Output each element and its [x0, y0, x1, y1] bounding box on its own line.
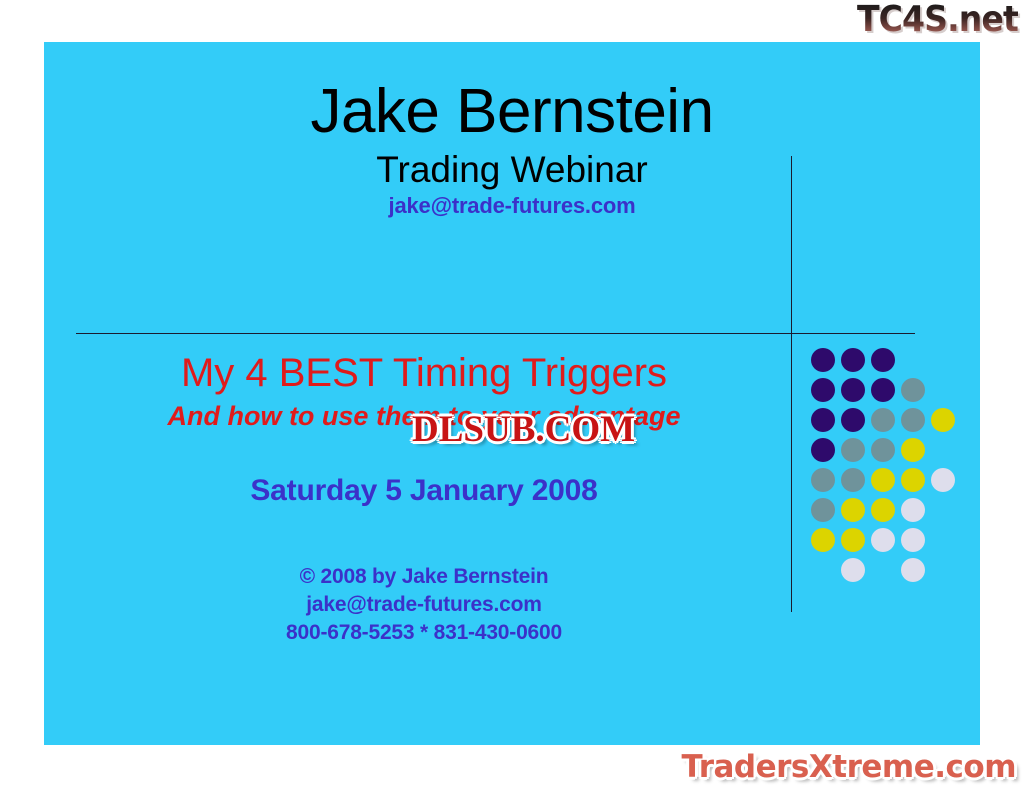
dot-purple-icon [811, 378, 835, 402]
dot-yellow-icon [931, 408, 955, 432]
footer-phones: 800-678-5253 * 831-430-0600 [44, 619, 804, 647]
dot-row [808, 375, 968, 405]
dot-yellow-icon [901, 468, 925, 492]
dot-cell [838, 435, 868, 465]
presentation-slide: Jake Bernstein Trading Webinar jake@trad… [44, 42, 980, 745]
dot-cell [868, 345, 898, 375]
dot-gray-icon [871, 438, 895, 462]
dot-cell [868, 435, 898, 465]
dot-purple-icon [811, 408, 835, 432]
dot-white-icon [901, 558, 925, 582]
dot-cell [868, 495, 898, 525]
dot-row [808, 465, 968, 495]
dot-cell [928, 345, 958, 375]
dot-row [808, 555, 968, 585]
dot-purple-icon [841, 378, 865, 402]
headline-text: My 4 BEST Timing Triggers [44, 352, 804, 394]
dot-cell [898, 555, 928, 585]
dot-cell [838, 525, 868, 555]
tradersxtreme-watermark: TradersXtreme.com [681, 752, 1016, 783]
dot-gray-icon [841, 468, 865, 492]
dot-cell [808, 555, 838, 585]
dot-cell [868, 405, 898, 435]
page-title: Jake Bernstein [44, 80, 980, 143]
footer-copyright: © 2008 by Jake Bernstein [44, 563, 804, 591]
dot-cell [808, 345, 838, 375]
dlsub-watermark: DLSUB.COM [412, 411, 635, 448]
dot-row [808, 495, 968, 525]
dot-cell [898, 405, 928, 435]
dot-cell [868, 375, 898, 405]
dot-empty [811, 558, 835, 582]
dot-cell [928, 405, 958, 435]
dot-row [808, 525, 968, 555]
dot-cell [868, 525, 898, 555]
dot-purple-icon [841, 348, 865, 372]
dot-empty [931, 348, 955, 372]
dot-yellow-icon [871, 498, 895, 522]
dot-gray-icon [841, 438, 865, 462]
header-email-link[interactable]: jake@trade-futures.com [44, 194, 980, 218]
dot-cell [898, 345, 928, 375]
dot-empty [931, 528, 955, 552]
dot-cell [808, 495, 838, 525]
dot-cell [928, 525, 958, 555]
dot-purple-icon [841, 408, 865, 432]
dot-cell [808, 405, 838, 435]
dot-gray-icon [901, 378, 925, 402]
dot-cell [928, 555, 958, 585]
dot-empty [931, 558, 955, 582]
dot-purple-icon [871, 378, 895, 402]
dot-cell [928, 435, 958, 465]
event-date: Saturday 5 January 2008 [44, 474, 804, 508]
dot-cell [898, 495, 928, 525]
horizontal-divider [76, 333, 915, 334]
dot-purple-icon [811, 438, 835, 462]
dot-cell [838, 375, 868, 405]
dot-cell [808, 435, 838, 465]
dot-row [808, 435, 968, 465]
dot-white-icon [931, 468, 955, 492]
dot-cell [928, 375, 958, 405]
dot-empty [931, 378, 955, 402]
dot-purple-icon [811, 348, 835, 372]
dot-cell [838, 555, 868, 585]
dot-cell [898, 375, 928, 405]
dot-purple-icon [871, 348, 895, 372]
decorative-dot-matrix [808, 345, 968, 595]
dot-yellow-icon [811, 528, 835, 552]
dot-yellow-icon [871, 468, 895, 492]
dot-empty [931, 438, 955, 462]
dot-empty [871, 558, 895, 582]
dot-cell [898, 435, 928, 465]
dot-cell [838, 345, 868, 375]
dot-cell [808, 525, 838, 555]
dot-empty [901, 348, 925, 372]
dot-gray-icon [811, 468, 835, 492]
dot-cell [868, 465, 898, 495]
tc4s-watermark: TC4S.net [857, 2, 1018, 38]
dot-cell [898, 525, 928, 555]
footer-contact-block: © 2008 by Jake Bernstein jake@trade-futu… [44, 563, 804, 647]
dot-white-icon [901, 528, 925, 552]
dot-yellow-icon [841, 528, 865, 552]
dot-gray-icon [871, 408, 895, 432]
dot-white-icon [901, 498, 925, 522]
dot-cell [898, 465, 928, 495]
dot-cell [808, 465, 838, 495]
dot-cell [838, 495, 868, 525]
dot-yellow-icon [841, 498, 865, 522]
dot-white-icon [841, 558, 865, 582]
dot-row [808, 405, 968, 435]
title-block: Jake Bernstein Trading Webinar jake@trad… [44, 80, 980, 218]
dot-cell [928, 465, 958, 495]
dot-gray-icon [901, 408, 925, 432]
dot-cell [868, 555, 898, 585]
dot-cell [838, 465, 868, 495]
dot-white-icon [871, 528, 895, 552]
slide-subtitle: Trading Webinar [44, 151, 980, 190]
dot-gray-icon [811, 498, 835, 522]
dot-cell [928, 495, 958, 525]
dot-cell [808, 375, 838, 405]
dot-cell [838, 405, 868, 435]
footer-email[interactable]: jake@trade-futures.com [44, 591, 804, 619]
dot-row [808, 345, 968, 375]
dot-empty [931, 498, 955, 522]
dot-yellow-icon [901, 438, 925, 462]
